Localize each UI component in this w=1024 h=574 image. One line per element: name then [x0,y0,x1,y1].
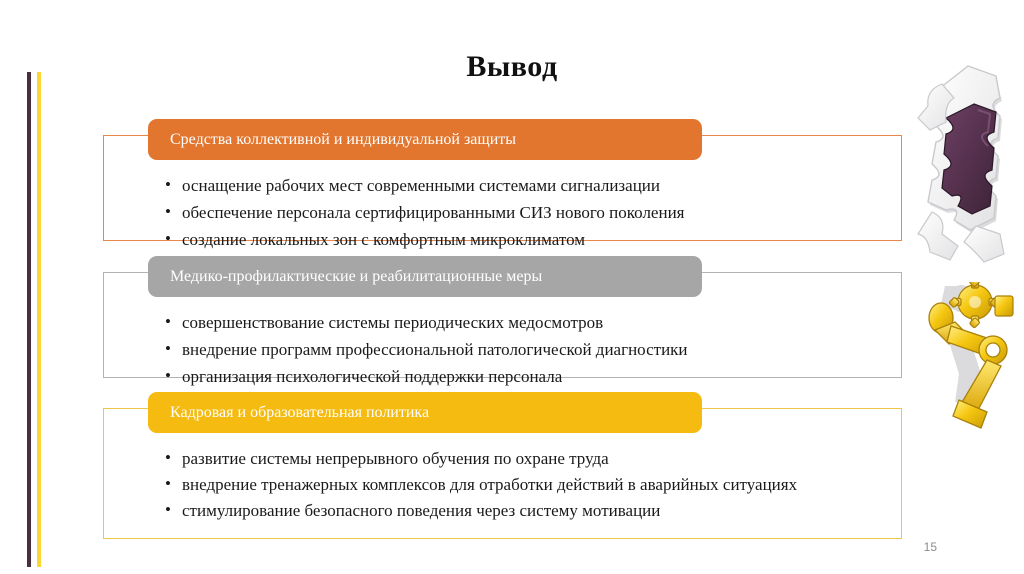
block-3-bullet-list: развитие системы непрерывного обучения п… [165,447,882,525]
block-2-bullet-list: совершенствование системы периодических … [165,311,882,392]
block-2-header[interactable]: Медико-профилактические и реабилитационн… [148,256,702,297]
page-number: 15 [924,540,937,554]
list-item: оснащение рабочих мест современными сист… [165,174,882,198]
list-item: внедрение программ профессиональной пато… [165,338,882,362]
block-1-bullet-list: оснащение рабочих мест современными сист… [165,174,882,255]
puzzle-gear-icon [912,62,1022,277]
content-block-2: Медико-профилактические и реабилитационн… [103,256,902,378]
block-3-header[interactable]: Кадровая и образовательная политика [148,392,702,433]
list-item: обеспечение персонала сертифицированными… [165,201,882,225]
list-item: совершенствование системы периодических … [165,311,882,335]
content-block-3: Кадровая и образовательная политика разв… [103,392,902,539]
vertical-rule-yellow-icon [37,72,41,567]
list-item: развитие системы непрерывного обучения п… [165,447,882,471]
list-item: внедрение тренажерных комплексов для отр… [165,473,882,497]
list-item: создание локальных зон с комфортным микр… [165,228,882,252]
page-title: Вывод [0,50,1024,84]
content-block-1: Средства коллективной и индивидуальной з… [103,119,902,241]
robot-arm-icon [915,282,1021,434]
slide-canvas: Вывод Средства коллективной и индивидуал… [0,0,1024,574]
block-1-header[interactable]: Средства коллективной и индивидуальной з… [148,119,702,160]
list-item: организация психологической поддержки пе… [165,365,882,389]
vertical-rule-dark-icon [27,72,31,567]
list-item: стимулирование безопасного поведения чер… [165,499,882,523]
